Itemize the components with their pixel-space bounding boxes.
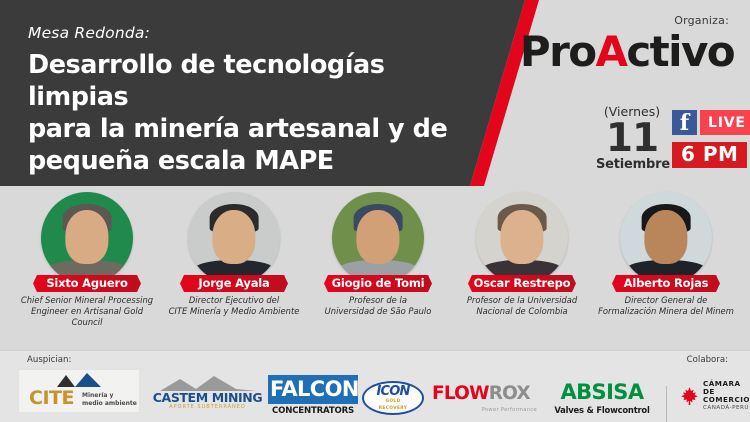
proactivo-accent-a: A [595, 27, 626, 76]
icon-gold-sub-1: GOLD [385, 399, 400, 404]
falcon-wordmark: FALCON [268, 375, 358, 404]
proactivo-logo: ProActivo [520, 31, 734, 73]
cite-tagline-line-2: medio ambiente [82, 400, 137, 408]
speaker-card: Alberto Rojas Director General de Formal… [591, 186, 741, 317]
falcon-subtitle: CONCENTRATORS [268, 406, 358, 416]
icon-gold-sub-2: RECOVERY [379, 406, 408, 411]
speaker-role-line-1: Director Ejecutivo del [165, 295, 303, 306]
speaker-role: Director General de Formalización Minera… [591, 295, 741, 317]
avatar-head [65, 210, 108, 263]
organiza-label: Organiza: [674, 14, 729, 27]
avatar [620, 192, 712, 284]
avatar-head [356, 210, 399, 263]
sponsor-logo-row: CITE Minería y medio ambiente CASTEM MIN… [0, 366, 750, 416]
speaker-role-line-2: CITE Minería y Medio Ambiente [165, 306, 303, 317]
speaker-name: Jorge Ayala [180, 275, 288, 292]
speaker-role-line-1: Chief Senior Mineral Processing [18, 295, 156, 306]
speaker-card: Giogio de Tomi Profesor de la Universida… [303, 186, 453, 317]
avatar [41, 192, 133, 284]
speaker-role-line-2: Engineer en Artisanal Gold Council [18, 306, 156, 328]
avatar-photo [41, 192, 133, 284]
event-time-badge: 6 PM [672, 142, 747, 168]
speaker-role: Profesor de la Universidad de São Paulo [303, 295, 453, 317]
cite-wordmark: CITE [29, 389, 74, 408]
avatar-head [212, 210, 255, 263]
event-month: Setiembre [596, 158, 668, 171]
sponsor-logo-flowrox: FLOWROX Power Performance [432, 375, 537, 422]
avatar-photo [332, 192, 424, 284]
sponsor-logo-absisa: ABSISA Valves & Flowcontrol [548, 374, 656, 422]
avatar [188, 192, 280, 284]
speaker-role: Director Ejecutivo del CITE Minería y Me… [159, 295, 309, 317]
speaker-card: Oscar Restrepo Profesor de la Universida… [447, 186, 597, 317]
castem-mountain-icon [158, 375, 258, 391]
speaker-name: Alberto Rojas [612, 275, 720, 292]
flowrox-part-1: FLOW [432, 383, 489, 404]
flowrox-part-2: ROX [489, 383, 530, 404]
absisa-wordmark: ABSISA [548, 382, 656, 403]
speaker-role-line-2: Nacional de Colombia [453, 306, 591, 317]
facebook-live-row[interactable]: f LIVE [672, 110, 750, 135]
proactivo-part-1: Pro [520, 27, 596, 76]
speakers-row: Sixto Aguero Chief Senior Mineral Proces… [0, 186, 750, 350]
cite-tagline: Minería y medio ambiente [82, 392, 137, 407]
speaker-role: Profesor de la Universidad Nacional de C… [447, 295, 597, 317]
icon-gold-oval: ICON GOLD RECOVERY [362, 381, 424, 415]
speaker-name: Sixto Aguero [33, 275, 141, 292]
headline-line-1: Desarrollo de tecnologías limpias [28, 49, 488, 113]
event-kicker: Mesa Redonda: [28, 24, 488, 42]
flowrox-tagline: Power Performance [432, 407, 537, 413]
title-block: Mesa Redonda: Desarrollo de tecnologías … [28, 24, 488, 178]
event-headline: Desarrollo de tecnologías limpias para l… [28, 49, 488, 178]
speaker-role-line-2: Formalización Minera del Minem [597, 306, 735, 317]
event-date-block: (Viernes) 11 Setiembre [596, 106, 668, 171]
avatar [476, 192, 568, 284]
live-badge: LIVE [700, 110, 750, 135]
cite-mountain-icon [55, 373, 103, 387]
speaker-name: Giogio de Tomi [324, 275, 432, 292]
facebook-icon[interactable]: f [672, 110, 697, 135]
facebook-f-glyph: f [672, 110, 697, 135]
maple-leaf-icon [680, 383, 699, 409]
speaker-role-line-1: Profesor de la Universidad [453, 295, 591, 306]
absisa-subtitle: Valves & Flowcontrol [548, 405, 656, 415]
footer-divider [666, 386, 667, 422]
camara-line-3: CANADÁ-PERÚ [703, 405, 750, 411]
speaker-card: Sixto Aguero Chief Senior Mineral Proces… [12, 186, 162, 328]
event-banner: Mesa Redonda: Desarrollo de tecnologías … [0, 0, 750, 422]
speaker-role: Chief Senior Mineral Processing Engineer… [12, 295, 162, 328]
sponsor-logo-falcon: FALCON CONCENTRATORS [268, 371, 358, 419]
avatar-photo [620, 192, 712, 284]
avatar-photo [188, 192, 280, 284]
headline-line-2: para la minería artesanal y de [28, 113, 488, 145]
speaker-card: Jorge Ayala Director Ejecutivo del CITE … [159, 186, 309, 317]
camara-line-2: DE COMERCIO [703, 388, 750, 404]
speaker-name: Oscar Restrepo [468, 275, 576, 292]
castem-wordmark: CASTEM MINING [150, 392, 265, 405]
avatar-head [644, 210, 687, 263]
event-day-number: 11 [596, 120, 668, 157]
speaker-role-line-1: Director General de [597, 295, 735, 306]
avatar-head [500, 210, 543, 263]
auspician-label: Auspician: [27, 355, 71, 365]
avatar [332, 192, 424, 284]
sponsor-logo-icon-gold: ICON GOLD RECOVERY [362, 374, 424, 422]
flowrox-wordmark: FLOWROX [432, 385, 537, 404]
sponsor-logo-camara-comercio: CÁMARA DE COMERCIO CANADÁ-PERÚ [680, 372, 750, 420]
proactivo-part-2: ctivo [626, 27, 734, 76]
speaker-role-line-1: Profesor de la [309, 295, 447, 306]
sponsor-logo-cite: CITE Minería y medio ambiente [18, 369, 140, 413]
banner-header: Mesa Redonda: Desarrollo de tecnologías … [0, 0, 750, 186]
avatar-photo [476, 192, 568, 284]
sponsor-logo-castem: CASTEM MINING APORTE SUBTERRÁNEO [150, 370, 265, 418]
headline-line-3: pequeña escala MAPE [28, 145, 488, 177]
icon-gold-wordmark: ICON [376, 385, 409, 398]
colabora-label: Colabora: [687, 355, 728, 365]
sponsors-footer: Auspician: Colabora: CITE Minería y medi… [0, 350, 750, 422]
cite-tagline-line-1: Minería y [82, 392, 137, 400]
castem-tagline: APORTE SUBTERRÁNEO [150, 404, 265, 410]
camara-text: CÁMARA DE COMERCIO CANADÁ-PERÚ [703, 380, 750, 411]
speaker-role-line-2: Universidad de São Paulo [309, 306, 447, 317]
